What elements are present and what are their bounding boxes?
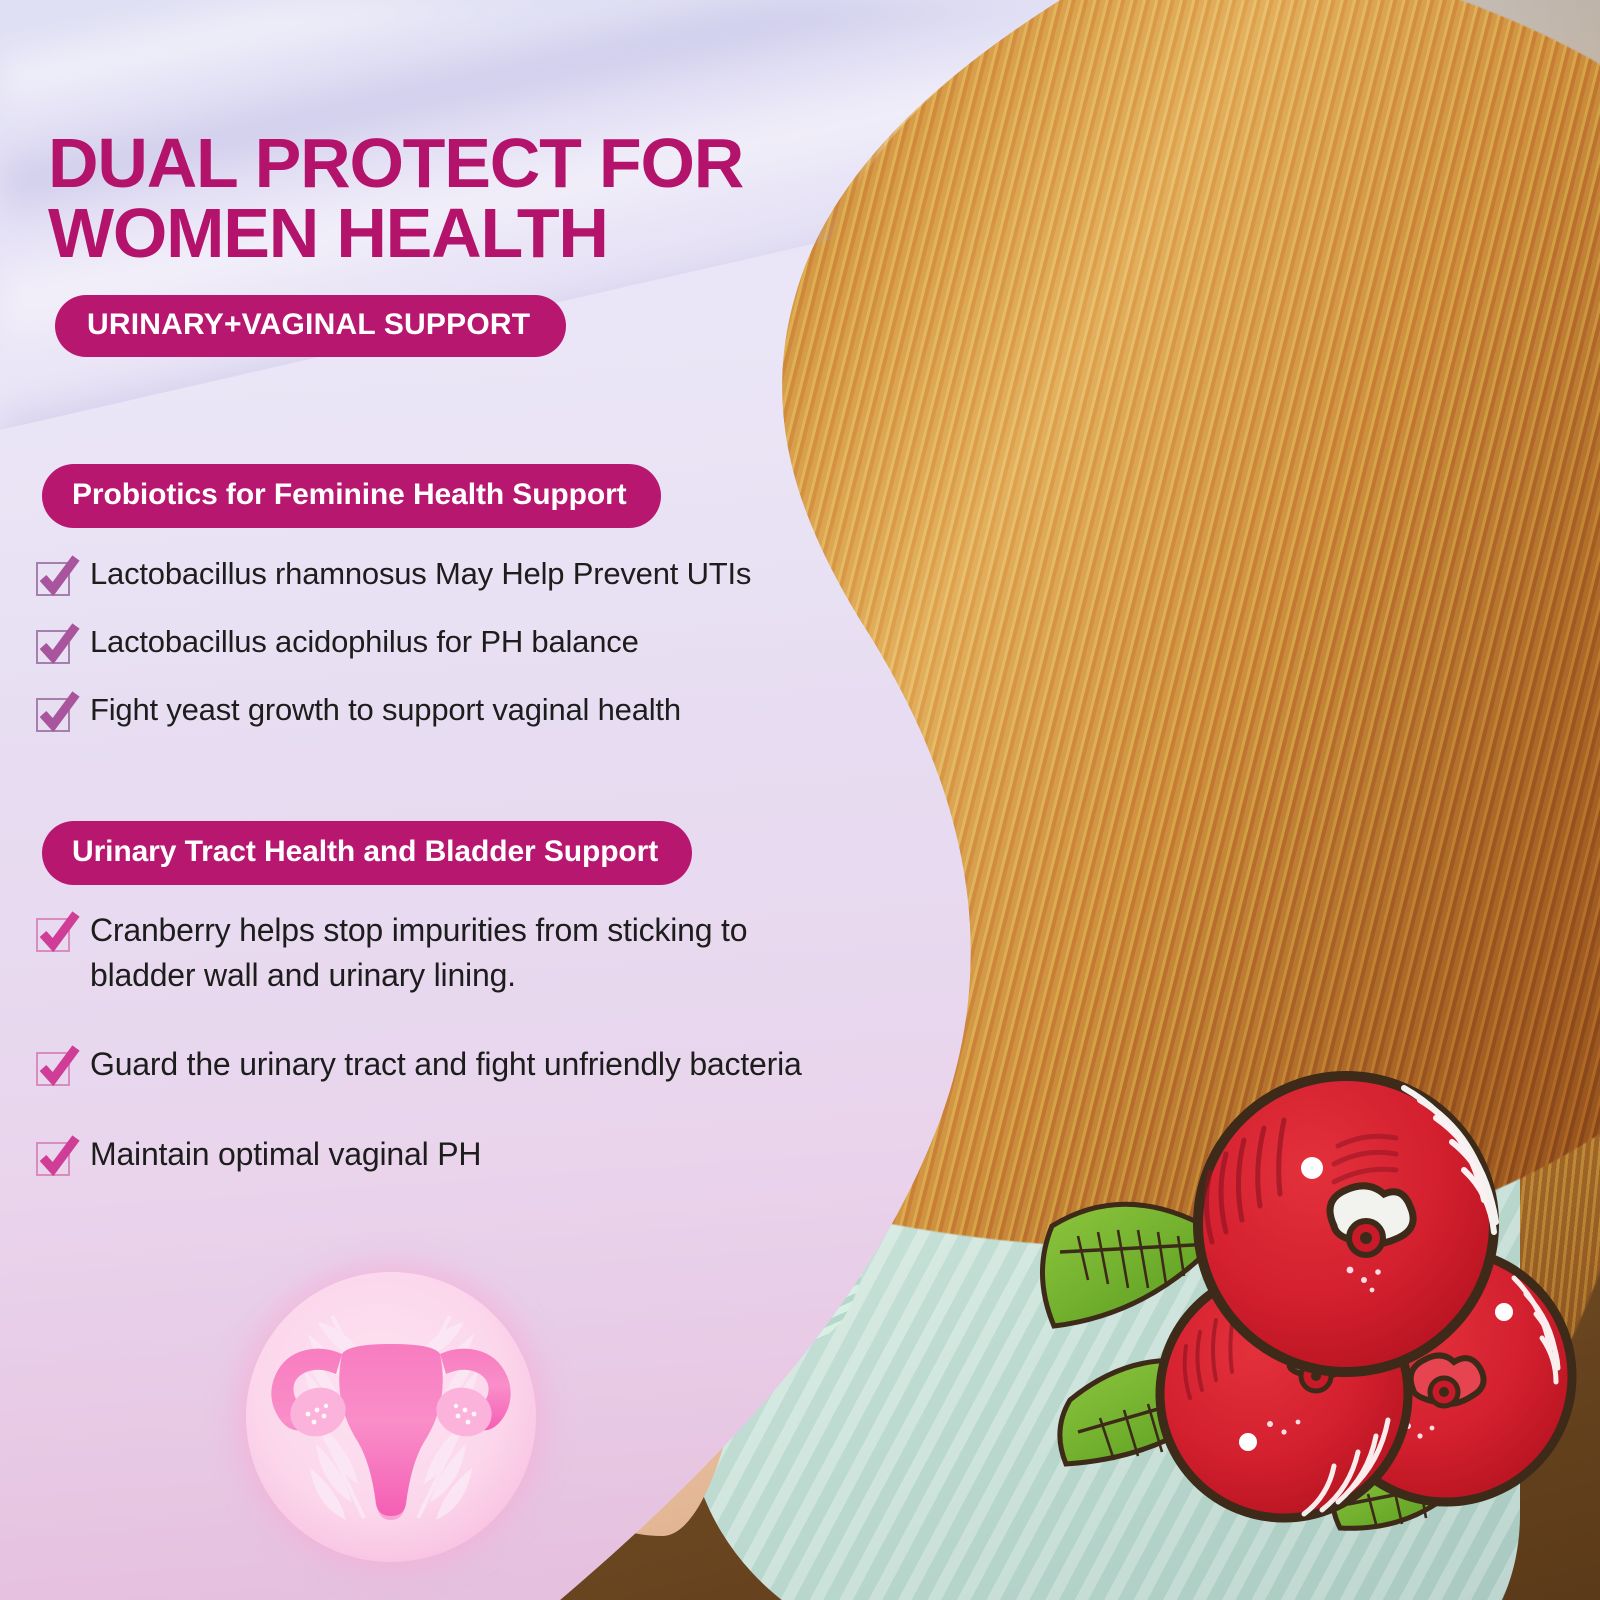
checkmark-icon xyxy=(34,914,74,954)
headline-line-1: DUAL PROTECT FOR xyxy=(48,128,878,198)
bullet-text: Cranberry helps stop impurities from sti… xyxy=(90,908,820,998)
list-item: Maintain optimal vaginal PH xyxy=(34,1132,834,1178)
checkmark-icon xyxy=(34,1048,74,1088)
uterus-icon-badge xyxy=(246,1272,536,1562)
bullet-text: Maintain optimal vaginal PH xyxy=(90,1132,481,1177)
list-item: Fight yeast growth to support vaginal he… xyxy=(34,688,834,734)
bullet-text: Guard the urinary tract and fight unfrie… xyxy=(90,1042,802,1087)
product-infographic-poster: DUAL PROTECT FOR WOMEN HEALTH URINARY+VA… xyxy=(0,0,1600,1600)
bullet-list-probiotics: Lactobacillus rhamnosus May Help Prevent… xyxy=(34,552,834,756)
checkmark-icon xyxy=(34,626,74,666)
list-item: Lactobacillus acidophilus for PH balance xyxy=(34,620,834,666)
bullet-text: Lactobacillus rhamnosus May Help Prevent… xyxy=(90,552,751,595)
berry-calyx xyxy=(1411,1355,1484,1406)
list-item: Guard the urinary tract and fight unfrie… xyxy=(34,1042,834,1088)
list-item: Cranberry helps stop impurities from sti… xyxy=(34,908,834,998)
section-header-probiotics: Probiotics for Feminine Health Support xyxy=(42,464,661,528)
page-title: DUAL PROTECT FOR WOMEN HEALTH xyxy=(48,128,878,268)
uterus-icon xyxy=(246,1272,536,1562)
checkmark-icon xyxy=(34,558,74,598)
bullet-text: Fight yeast growth to support vaginal he… xyxy=(90,688,681,731)
headline-line-2: WOMEN HEALTH xyxy=(48,198,878,268)
subtitle-badge: URINARY+VAGINAL SUPPORT xyxy=(55,295,566,357)
bullet-text: Lactobacillus acidophilus for PH balance xyxy=(90,620,639,663)
checkmark-icon xyxy=(34,694,74,734)
section-header-urinary: Urinary Tract Health and Bladder Support xyxy=(42,821,692,885)
list-item: Lactobacillus rhamnosus May Help Prevent… xyxy=(34,552,834,598)
cranberry-berry xyxy=(1198,1076,1496,1372)
cranberry-illustration xyxy=(1016,1046,1588,1556)
checkmark-icon xyxy=(34,1138,74,1178)
bullet-list-urinary: Cranberry helps stop impurities from sti… xyxy=(34,908,834,1222)
